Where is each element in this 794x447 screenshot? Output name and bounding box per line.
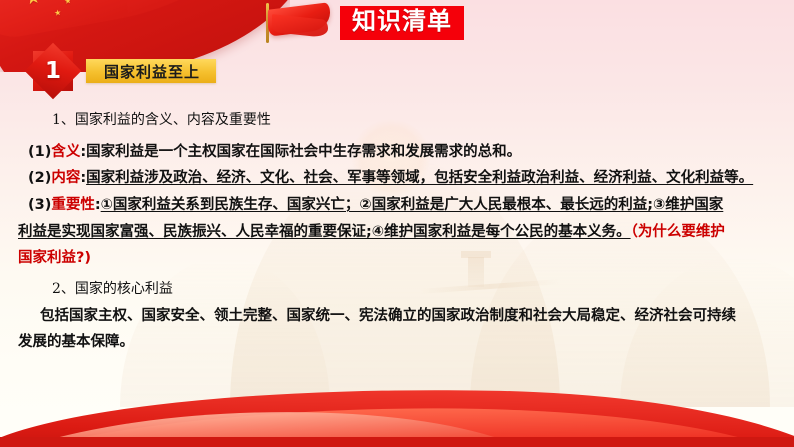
spacer xyxy=(0,132,794,141)
section-header: 1 国家利益至上 xyxy=(30,48,216,94)
flag-star-large: ★ xyxy=(24,0,42,8)
content-heading-2: 2、国家的核心利益 xyxy=(0,279,794,301)
content-item-4-line-1: 包括国家主权、国家安全、领土完整、国家统一、宪法确立的国家政治制度和社会大局稳定… xyxy=(0,305,794,328)
item-2-text: 国家利益涉及政治、经济、文化、社会、军事等领域，包括安全利益政治利益、经济利益、… xyxy=(86,170,753,186)
red-wave-decoration: ★ ★ ★ ★ ★ xyxy=(0,377,794,447)
item-1-text: 国家利益是一个主权国家在国际社会中生存需求和发展需求的总和。 xyxy=(86,144,521,160)
spacer xyxy=(0,270,794,279)
item-1-marker: (1) xyxy=(28,144,51,160)
section-number: 1 xyxy=(45,60,61,83)
section-title-banner: 国家利益至上 xyxy=(86,59,216,83)
red-flag-icon xyxy=(262,3,334,43)
item-2-keyword: 内容 xyxy=(51,170,80,186)
content-item-1: (1)含义:国家利益是一个主权国家在国际社会中生存需求和发展需求的总和。 xyxy=(0,141,794,164)
item-3-text-line-1: ①国家利益关系到民族生存、国家兴亡；②国家利益是广大人民最根本、最长远的利益;③… xyxy=(101,197,724,213)
content-item-3-line-1: (3)重要性:①国家利益关系到民族生存、国家兴亡；②国家利益是广大人民最根本、最… xyxy=(0,194,794,217)
item-1-keyword: 含义 xyxy=(51,144,80,160)
flag-star-4: ★ xyxy=(54,9,62,18)
content-item-3-note-line-2: 国家利益?) xyxy=(0,247,794,270)
title-badge: 知识清单 xyxy=(340,6,464,39)
section-number-burst: 1 xyxy=(30,48,76,94)
content-heading-1: 1、国家利益的含义、内容及重要性 xyxy=(0,110,794,132)
item-3-text-line-2: 利益是实现国家富强、民族振兴、人民幸福的重要保证;④维护国家利益是每个公民的基本… xyxy=(18,224,631,240)
item-3-note-line-1: （为什么要维护 xyxy=(631,224,725,240)
content-item-4-line-2: 发展的基本保障。 xyxy=(0,331,794,354)
content-body: 1、国家利益的含义、内容及重要性 (1)含义:国家利益是一个主权国家在国际社会中… xyxy=(0,110,794,354)
content-item-3-line-2: 利益是实现国家富强、民族振兴、人民幸福的重要保证;④维护国家利益是每个公民的基本… xyxy=(0,221,794,244)
flag-star-3: ★ xyxy=(64,0,72,6)
content-item-2: (2)内容:国家利益涉及政治、经济、文化、社会、军事等领域，包括安全利益政治利益… xyxy=(0,167,794,190)
item-2-marker: (2) xyxy=(28,170,51,186)
slide-root: ★ ★ ★ ★ ★ ★ ★ 知识清单 1 国家利益至上 1、国家利益的含义、内容… xyxy=(0,0,794,447)
item-3-marker: (3) xyxy=(28,197,51,213)
item-3-keyword: 重要性 xyxy=(51,197,95,213)
wave-base-bar xyxy=(0,437,794,447)
page-title: 知识清单 xyxy=(262,2,464,44)
